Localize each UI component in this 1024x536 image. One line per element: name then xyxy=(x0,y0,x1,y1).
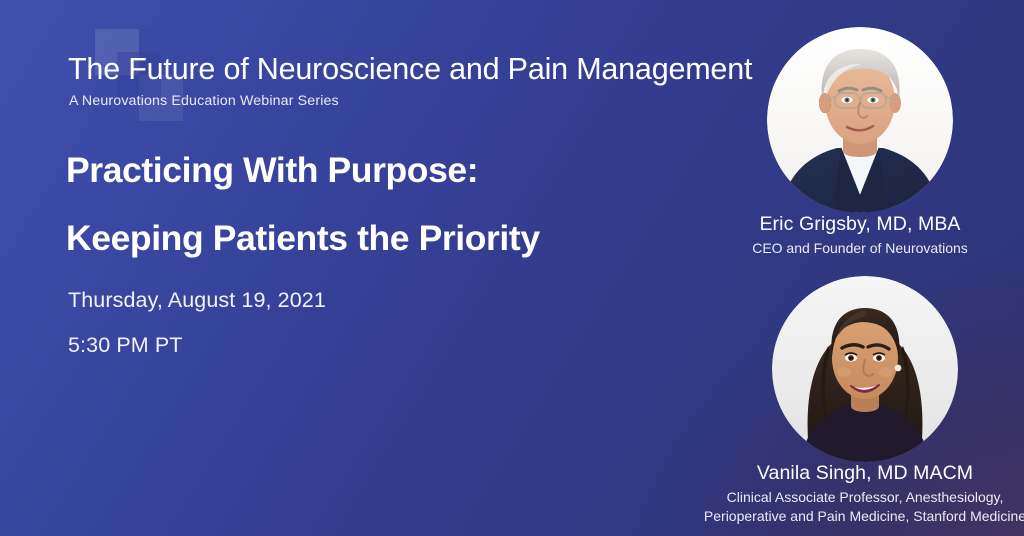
event-headline-line1: Practicing With Purpose: xyxy=(66,150,478,191)
speaker-2-role-line1: Clinical Associate Professor, Anesthesio… xyxy=(695,488,1024,507)
event-headline-line2: Keeping Patients the Priority xyxy=(66,218,540,259)
eric-grigsby-portrait xyxy=(767,27,953,213)
webinar-promo-poster: The Future of Neuroscience and Pain Mana… xyxy=(0,0,1024,536)
event-time: 5:30 PM PT xyxy=(68,333,183,358)
speaker-2-role-line2: Perioperative and Pain Medicine, Stanfor… xyxy=(695,507,1024,526)
speaker-2-name: Vanila Singh, MD MACM xyxy=(695,462,1024,485)
speaker-1-caption: Eric Grigsby, MD, MBA CEO and Founder of… xyxy=(690,213,1024,258)
event-details-column: The Future of Neuroscience and Pain Mana… xyxy=(68,0,708,536)
series-subtitle: A Neurovations Education Webinar Series xyxy=(69,93,339,109)
speaker-1-role: CEO and Founder of Neurovations xyxy=(690,239,1024,258)
speaker-2-role: Clinical Associate Professor, Anesthesio… xyxy=(695,488,1024,526)
speaker-1-name: Eric Grigsby, MD, MBA xyxy=(690,213,1024,236)
vanila-singh-portrait xyxy=(772,276,958,462)
event-date: Thursday, August 19, 2021 xyxy=(68,288,326,313)
speaker-2-caption: Vanila Singh, MD MACM Clinical Associate… xyxy=(695,462,1024,526)
series-title: The Future of Neuroscience and Pain Mana… xyxy=(68,52,752,87)
